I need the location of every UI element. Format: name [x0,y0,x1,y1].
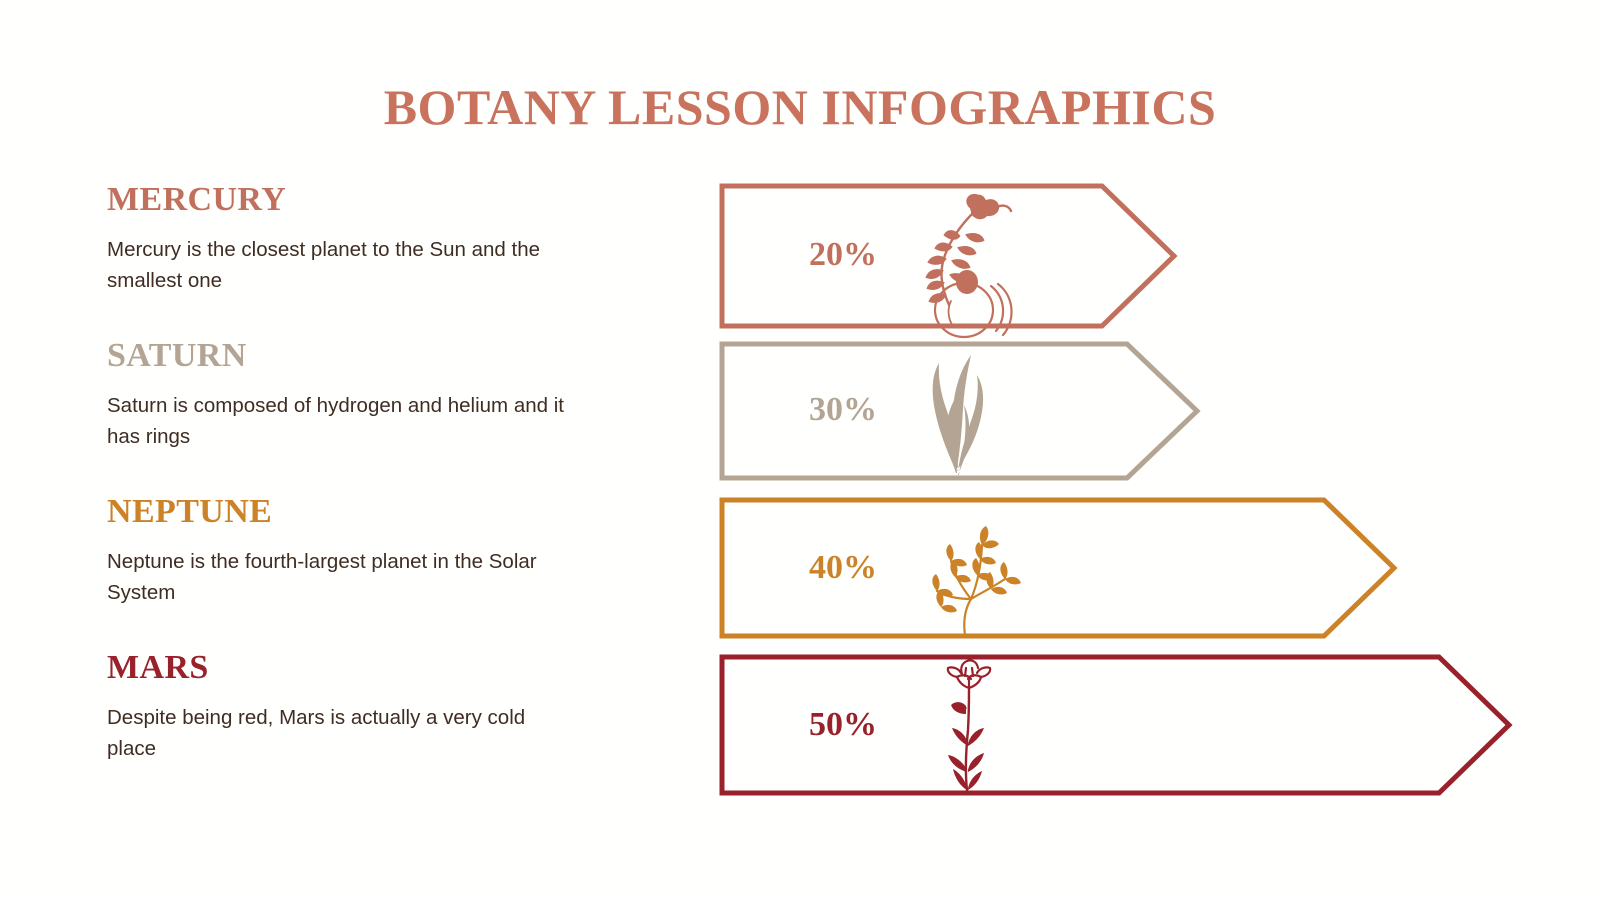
planet-name-saturn: SATURN [107,334,607,378]
planet-name-neptune: NEPTUNE [107,490,607,534]
percent-label-mercury: 20% [809,238,877,272]
arrow-bar-mars: 50% [719,654,1514,796]
arrow-bar-saturn: 30% [719,341,1204,481]
planet-block-saturn: SATURN Saturn is composed of hydrogen an… [107,334,607,452]
planet-block-mercury: MERCURY Mercury is the closest planet to… [107,178,607,296]
flower-sprig-with-rings-icon [927,194,1012,337]
arrow-outline-mars [722,657,1509,793]
arrow-bar-neptune: 40% [719,497,1399,639]
percent-label-neptune: 40% [809,551,877,585]
planet-block-mars: MARS Despite being red, Mars is actually… [107,646,607,764]
arrow-outline-saturn [722,344,1197,478]
grass-blades-icon [933,355,983,475]
percent-label-saturn: 30% [809,393,877,427]
single-flower-stem-icon [948,660,990,790]
infographic-slide: BOTANY LESSON INFOGRAPHICS MERCURY Mercu… [0,0,1600,900]
planet-description-mars: Despite being red, Mars is actually a ve… [107,702,577,764]
planet-name-mars: MARS [107,646,607,690]
branching-sprig-icon [932,526,1021,635]
page-title: BOTANY LESSON INFOGRAPHICS [0,78,1600,136]
planet-name-mercury: MERCURY [107,178,607,222]
arrow-bar-mercury: 20% [719,183,1179,329]
percent-label-mars: 50% [809,708,877,742]
planet-block-neptune: NEPTUNE Neptune is the fourth-largest pl… [107,490,607,608]
planet-description-mercury: Mercury is the closest planet to the Sun… [107,234,577,296]
planet-description-saturn: Saturn is composed of hydrogen and heliu… [107,390,577,452]
arrow-outline-neptune [722,500,1394,636]
planet-description-neptune: Neptune is the fourth-largest planet in … [107,546,577,608]
arrow-outline-mercury [722,186,1174,326]
